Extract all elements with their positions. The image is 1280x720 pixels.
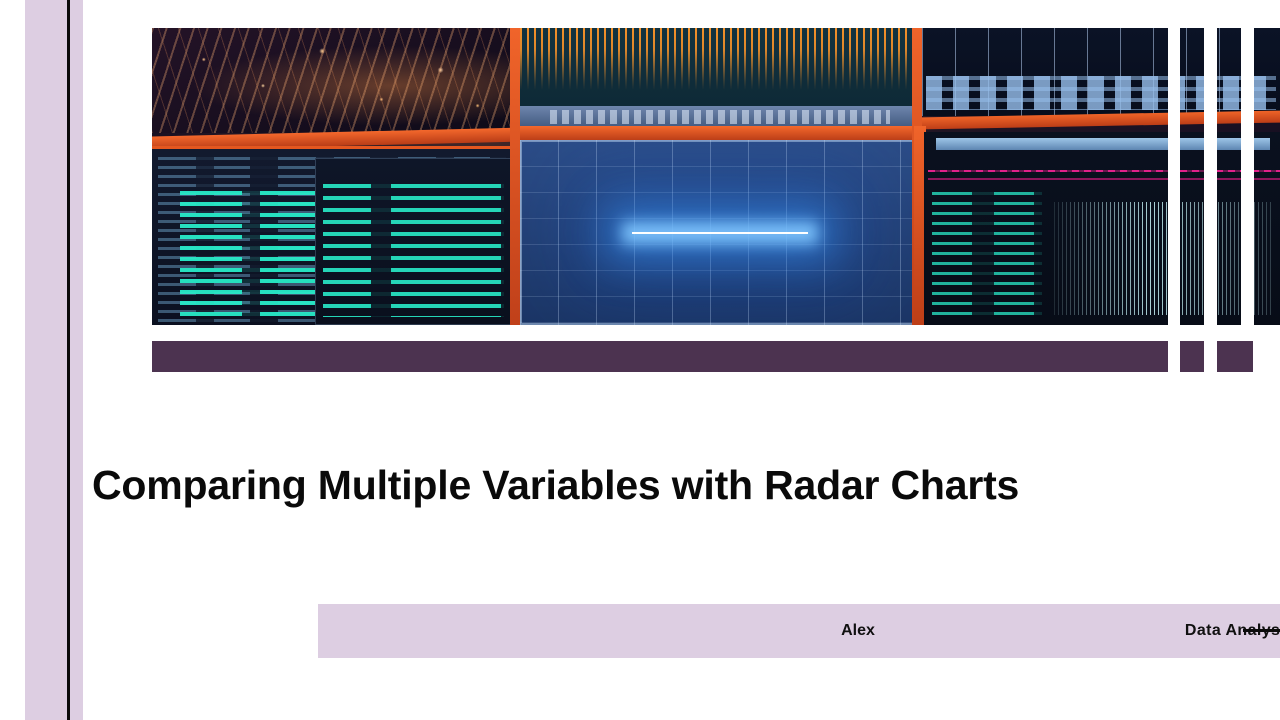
waveform-magenta-trace (1254, 170, 1280, 172)
accent-bar-segment (1180, 341, 1204, 372)
screen-data-table (1180, 28, 1204, 116)
orange-divider-table (1180, 111, 1204, 130)
screen-data-table (1254, 28, 1280, 116)
hero-image-segment (1217, 28, 1241, 325)
presenter-name: Alex (788, 604, 928, 658)
hero-image-segment (1254, 28, 1280, 325)
orange-divider-vertical (510, 28, 520, 325)
waveform-header-bar (1254, 138, 1270, 150)
waveform-magenta-trace (1180, 170, 1204, 172)
hero-photo-monitors (1254, 28, 1280, 325)
screen-data-table (1217, 28, 1241, 116)
left-accent-band-inner (70, 0, 83, 720)
waveform-header-bar (1180, 138, 1204, 150)
orange-divider-horizontal-center (520, 126, 924, 140)
slide-title: Comparing Multiple Variables with Radar … (92, 462, 1212, 509)
waveform-magenta-trace (1217, 170, 1241, 172)
accent-bar-segment (1217, 341, 1253, 372)
hero-photo-monitors (152, 28, 1168, 325)
orange-divider-table (1254, 111, 1280, 130)
waveform-spectrum (1217, 202, 1241, 315)
screen-city-lights-map (152, 28, 522, 133)
left-accent-band-outer (25, 0, 67, 720)
screen-waveform-analyzer (1180, 132, 1204, 325)
presenter-footer-bar: Alex Data Analyst (318, 604, 1280, 658)
screen-waveform-analyzer (924, 132, 1168, 325)
accent-bar-segment (152, 341, 1168, 372)
orange-divider-table (1217, 111, 1241, 130)
hero-image-segment (1180, 28, 1204, 325)
hero-image (152, 28, 1280, 325)
waveform-header-bar (1217, 138, 1241, 150)
waveform-spectrum (1254, 202, 1272, 315)
hero-photo-monitors (1180, 28, 1204, 325)
hero-photo-monitors (1217, 28, 1241, 325)
waveform-magenta-trace (928, 170, 1168, 172)
screen-spike-plot-toolbar (520, 106, 920, 128)
waveform-header-bar (936, 138, 1168, 150)
screen-blue-spectrum (520, 140, 920, 325)
slide-canvas: Comparing Multiple Variables with Radar … (0, 0, 1280, 720)
screen-data-table (922, 28, 1168, 116)
screen-waveform-analyzer (1217, 132, 1241, 325)
footer-accent-rule (1243, 629, 1280, 632)
screen-waveform-analyzer (1254, 132, 1280, 325)
waveform-spectrum (1054, 202, 1168, 315)
screen-code-terminal-secondary (315, 158, 512, 325)
waveform-teal-panel (932, 192, 1042, 315)
hero-image-segment (152, 28, 1168, 325)
waveform-spectrum (1180, 202, 1204, 315)
